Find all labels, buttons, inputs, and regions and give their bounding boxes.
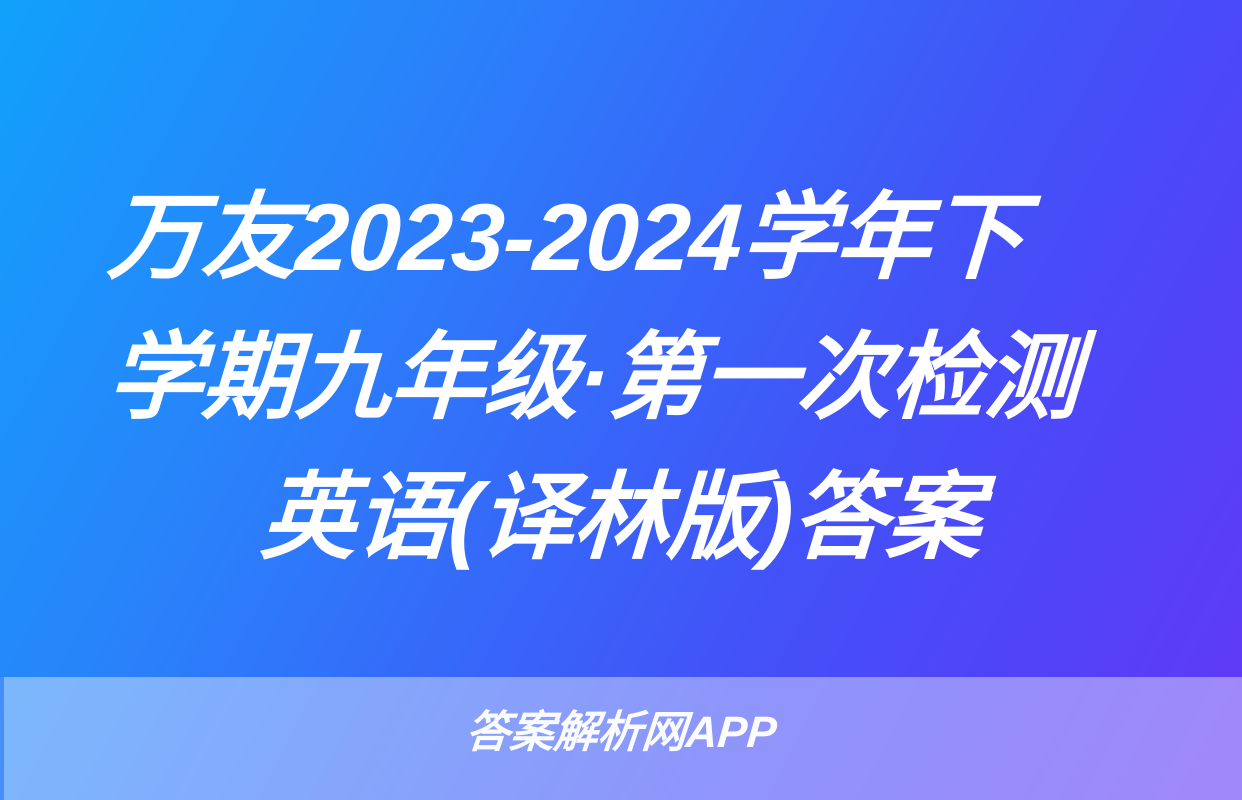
watermark: 答案解析网APP — [0, 703, 1242, 763]
poster-canvas: 万友2023-2024学年下 学期九年级·第一次检测 英语(译林版)答案 答案解… — [0, 0, 1242, 800]
title-line-3: 英语(译林版)答案 — [258, 448, 985, 588]
watermark-label: 答案解析网APP — [463, 703, 779, 763]
title-line-1: 万友2023-2024学年下 — [104, 168, 1137, 308]
title-line-2: 学期九年级·第一次检测 — [104, 308, 1137, 448]
title-block: 万友2023-2024学年下 学期九年级·第一次检测 英语(译林版)答案 — [0, 168, 1242, 588]
